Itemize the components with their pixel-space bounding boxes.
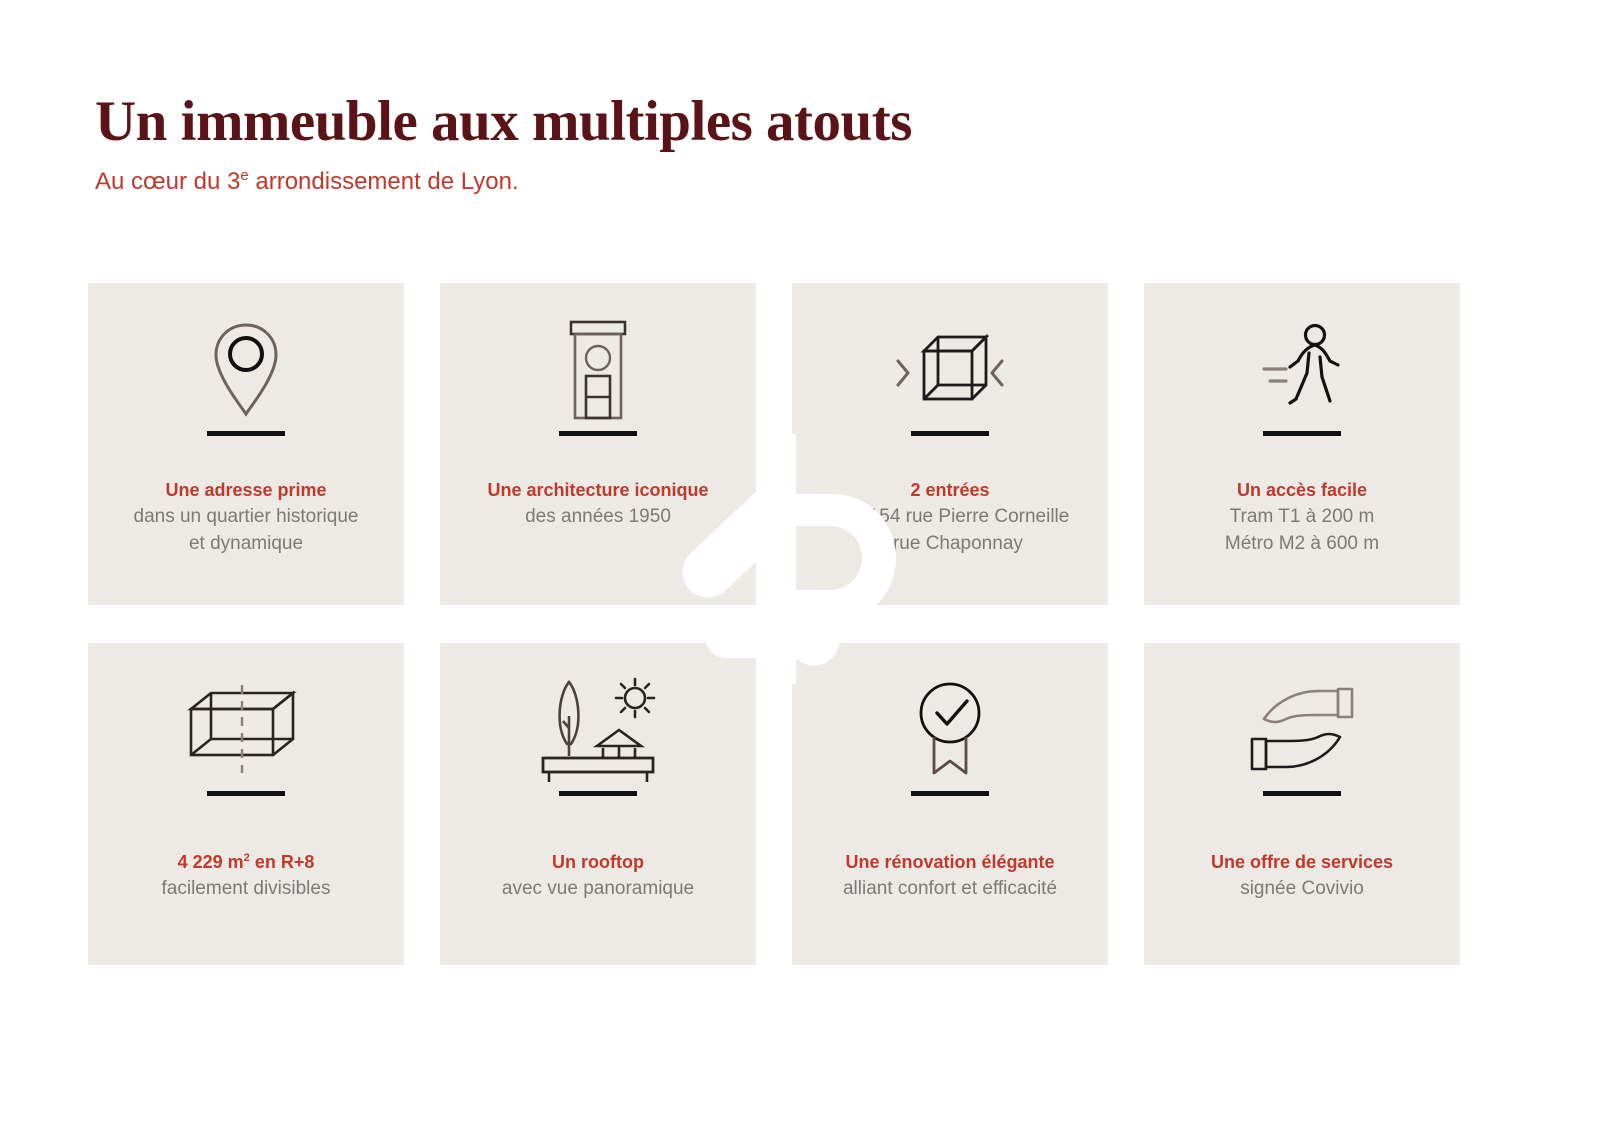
- feature-card-surface-divisible[interactable]: 4 229 m2 en R+8 facilement divisibles: [88, 643, 404, 965]
- feature-card-adresse-prime[interactable]: Une adresse prime dans un quartier histo…: [88, 283, 404, 605]
- card-heading: Un rooftop: [452, 850, 744, 874]
- feature-card-acces-facile[interactable]: Un accès facile Tram T1 à 200 m Métro M2…: [1144, 283, 1460, 605]
- divisible-box-icon: [181, 675, 311, 787]
- card-divider: [207, 791, 285, 796]
- card-text: Une adresse prime dans un quartier histo…: [88, 478, 404, 557]
- cube-arrows-icon: [886, 315, 1014, 427]
- card-subtext-line: dans un quartier historique: [100, 504, 392, 530]
- feature-card-2-entrees[interactable]: 2 entrées 152-154 rue Pierre Corneille 3…: [792, 283, 1108, 605]
- card-divider: [1263, 791, 1341, 796]
- card-subtext-line: alliant confort et efficacité: [804, 876, 1096, 902]
- card-subtext: dans un quartier historique et dynamique: [100, 504, 392, 556]
- card-subtext: Tram T1 à 200 m Métro M2 à 600 m: [1156, 504, 1448, 556]
- card-subtext-line: Métro M2 à 600 m: [1156, 531, 1448, 557]
- page-title: Un immeuble aux multiples atouts: [95, 92, 912, 152]
- card-subtext: 152-154 rue Pierre Corneille 3 rue Chapo…: [804, 504, 1096, 556]
- card-text: Une architecture iconique des années 195…: [440, 478, 756, 531]
- helping-hands-icon: [1242, 675, 1362, 787]
- card-divider: [207, 431, 285, 436]
- card-heading: Une adresse prime: [100, 478, 392, 502]
- card-heading-prefix: 4 229 m: [178, 852, 244, 872]
- page-subtitle: Au cœur du 3e arrondissement de Lyon.: [95, 168, 912, 196]
- card-text: 2 entrées 152-154 rue Pierre Corneille 3…: [792, 478, 1108, 557]
- card-heading: Une rénovation élégante: [804, 850, 1096, 874]
- card-divider: [559, 431, 637, 436]
- card-subtext-line: Tram T1 à 200 m: [1156, 504, 1448, 530]
- card-divider: [911, 791, 989, 796]
- card-heading: Un accès facile: [1156, 478, 1448, 502]
- card-subtext: des années 1950: [452, 504, 744, 530]
- card-subtext-line: 152-154 rue Pierre Corneille: [804, 504, 1096, 530]
- card-heading-suffix: en R+8: [250, 852, 315, 872]
- slide-root: Un immeuble aux multiples atouts Au cœur…: [0, 0, 1600, 1131]
- card-subtext-line: signée Covivio: [1156, 876, 1448, 902]
- card-subtext-line: facilement divisibles: [100, 876, 392, 902]
- feature-card-offre-services[interactable]: Une offre de services signée Covivio: [1144, 643, 1460, 965]
- card-heading: 4 229 m2 en R+8: [100, 850, 392, 874]
- card-heading: 2 entrées: [804, 478, 1096, 502]
- feature-card-architecture-iconique[interactable]: Une architecture iconique des années 195…: [440, 283, 756, 605]
- page-subtitle-suffix: arrondissement de Lyon.: [249, 168, 519, 195]
- card-heading: Une architecture iconique: [452, 478, 744, 502]
- card-divider: [911, 431, 989, 436]
- award-check-icon: [907, 675, 993, 787]
- card-text: 4 229 m2 en R+8 facilement divisibles: [88, 850, 404, 903]
- page-subtitle-superscript: e: [240, 168, 248, 184]
- page-subtitle-prefix: Au cœur du 3: [95, 168, 240, 195]
- card-text: Une offre de services signée Covivio: [1144, 850, 1460, 903]
- card-text: Un accès facile Tram T1 à 200 m Métro M2…: [1144, 478, 1460, 557]
- card-subtext-line: des années 1950: [452, 504, 744, 530]
- card-divider: [1263, 431, 1341, 436]
- card-subtext: facilement divisibles: [100, 876, 392, 902]
- card-divider: [559, 791, 637, 796]
- card-subtext: avec vue panoramique: [452, 876, 744, 902]
- card-subtext-line: 3 rue Chaponnay: [804, 531, 1096, 557]
- building-facade-icon: [553, 315, 643, 427]
- feature-card-renovation-elegante[interactable]: Une rénovation élégante alliant confort …: [792, 643, 1108, 965]
- header: Un immeuble aux multiples atouts Au cœur…: [95, 92, 912, 196]
- feature-card-rooftop[interactable]: Un rooftop avec vue panoramique: [440, 643, 756, 965]
- walking-person-icon: [1252, 315, 1352, 427]
- rooftop-terrace-icon: [535, 675, 661, 787]
- card-heading: Une offre de services: [1156, 850, 1448, 874]
- card-subtext-line: et dynamique: [100, 531, 392, 557]
- map-pin-icon: [207, 315, 285, 427]
- card-subtext-line: avec vue panoramique: [452, 876, 744, 902]
- feature-card-grid: Une adresse prime dans un quartier histo…: [88, 283, 1488, 965]
- card-text: Une rénovation élégante alliant confort …: [792, 850, 1108, 903]
- card-subtext: signée Covivio: [1156, 876, 1448, 902]
- card-subtext: alliant confort et efficacité: [804, 876, 1096, 902]
- card-text: Un rooftop avec vue panoramique: [440, 850, 756, 903]
